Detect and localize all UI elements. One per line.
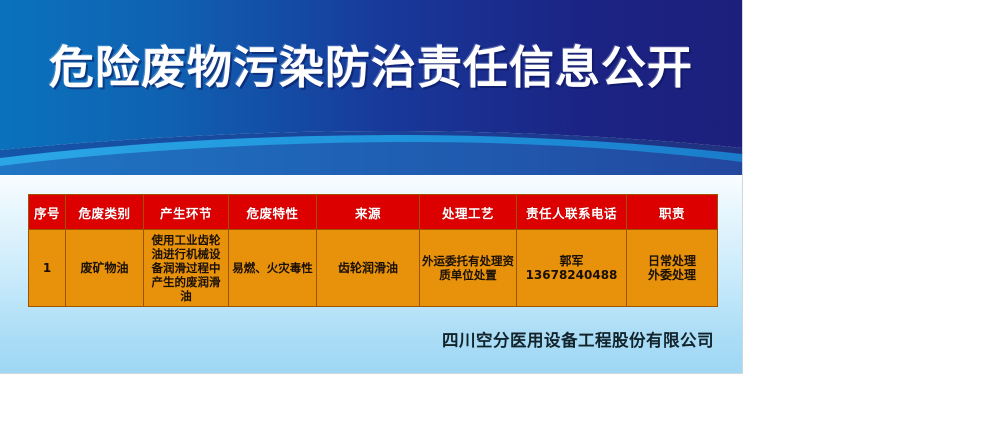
cell-source: 齿轮润滑油 [317, 230, 420, 307]
cell-process: 外运委托有处理资质单位处置 [420, 230, 517, 307]
column-header-seq: 序号 [29, 195, 66, 230]
table-header-row: 序号 危废类别 产生环节 危废特性 来源 处理工艺 责任人联系电话 职责 [29, 195, 718, 230]
column-header-contact: 责任人联系电话 [517, 195, 627, 230]
column-header-property: 危废特性 [229, 195, 317, 230]
poster-panel: 危险废物污染防治责任信息公开 序号 危废类别 产生环节 危废特性 来源 处理工艺… [0, 0, 742, 373]
column-header-stage: 产生环节 [144, 195, 229, 230]
company-name: 四川空分医用设备工程股份有限公司 [0, 327, 742, 351]
table-row: 1 废矿物油 使用工业齿轮油进行机械设备润滑过程中产生的废润滑油 易燃、火灾毒性… [29, 230, 718, 307]
cell-duty: 日常处理 外委处理 [627, 230, 718, 307]
cell-category: 废矿物油 [66, 230, 144, 307]
cell-property: 易燃、火灾毒性 [229, 230, 317, 307]
column-header-duty: 职责 [627, 195, 718, 230]
cell-stage: 使用工业齿轮油进行机械设备润滑过程中产生的废润滑油 [144, 230, 229, 307]
column-header-source: 来源 [317, 195, 420, 230]
cell-contact: 郭军 13678240488 [517, 230, 627, 307]
column-header-process: 处理工艺 [420, 195, 517, 230]
cell-seq: 1 [29, 230, 66, 307]
column-header-category: 危废类别 [66, 195, 144, 230]
page-title: 危险废物污染防治责任信息公开 [0, 44, 742, 91]
hazardous-waste-table: 序号 危废类别 产生环节 危废特性 来源 处理工艺 责任人联系电话 职责 1 废… [28, 194, 718, 307]
